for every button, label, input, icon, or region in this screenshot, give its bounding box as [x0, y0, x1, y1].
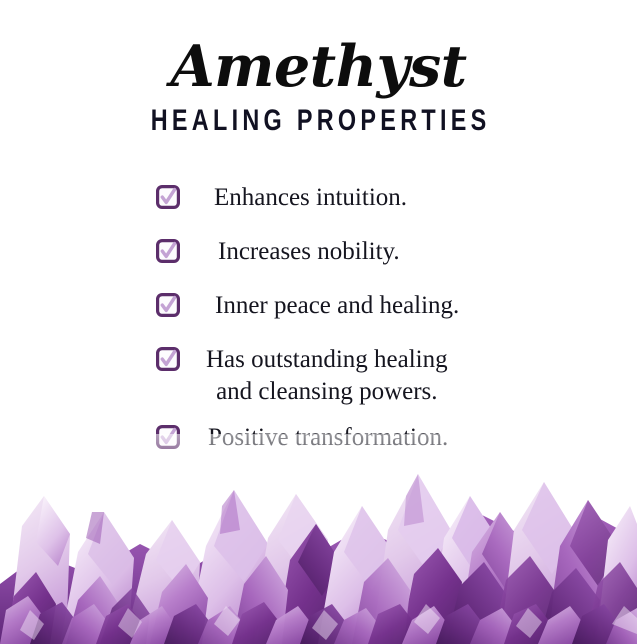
checkbox-checked-icon [156, 347, 180, 371]
healing-properties-list: Enhances intuition. Increases nobility. … [156, 182, 586, 476]
list-item: Positive transformation. [156, 422, 586, 454]
list-item-label: Positive transformation. [180, 422, 448, 454]
list-item: Enhances intuition. [156, 182, 586, 214]
list-item-label: Enhances intuition. [180, 182, 407, 214]
list-item-label: Inner peace and healing. [180, 290, 459, 322]
list-item-label: Has outstanding healing and cleansing po… [180, 344, 448, 408]
checkbox-checked-icon [156, 239, 180, 263]
list-item: Increases nobility. [156, 236, 586, 268]
checkbox-checked-icon [156, 185, 180, 209]
amethyst-healing-properties-poster: Amethyst HEALING PROPERTIES Enhances int… [0, 0, 637, 644]
page-title: Amethyst [0, 0, 637, 98]
list-item: Inner peace and healing. [156, 290, 586, 322]
poster-header: Amethyst HEALING PROPERTIES [0, 0, 637, 138]
checkbox-checked-icon [156, 293, 180, 317]
list-item: Has outstanding healing and cleansing po… [156, 344, 586, 408]
page-subtitle: HEALING PROPERTIES [70, 98, 567, 138]
checkbox-checked-icon [156, 425, 180, 449]
list-item-label: Increases nobility. [180, 236, 400, 268]
